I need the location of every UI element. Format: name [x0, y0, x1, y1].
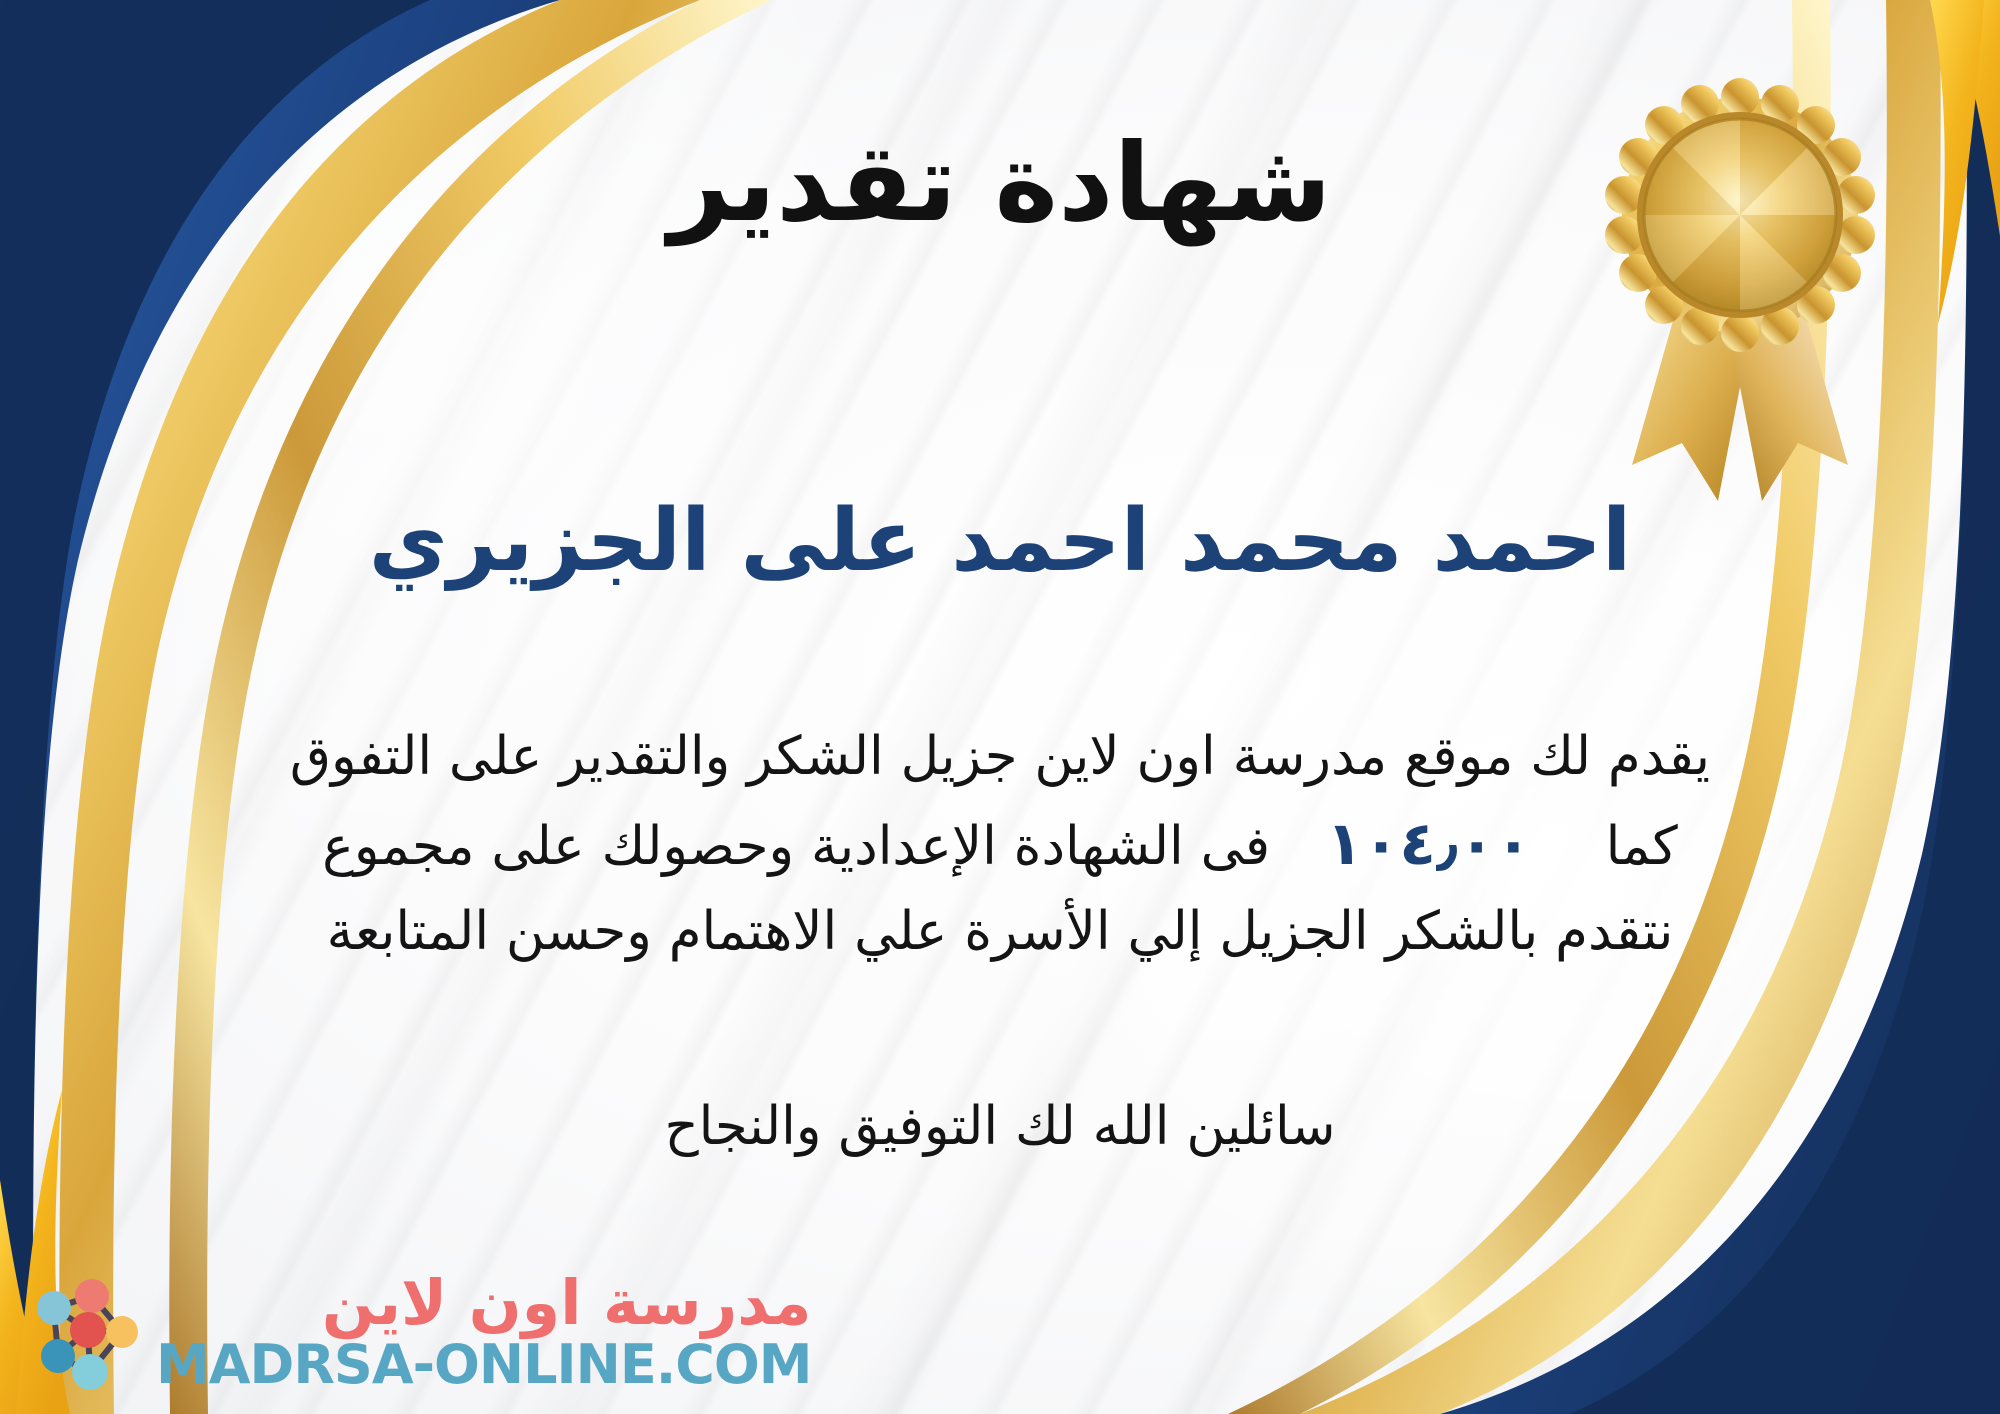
- closing-wish: سائلين الله لك التوفيق والنجاح: [0, 1096, 2000, 1157]
- network-nodes-icon: [18, 1268, 146, 1396]
- body-line-1: يقدم لك موقع مدرسة اون لاين جزيل الشكر و…: [55, 716, 1945, 798]
- certificate-title: شهادة تقدير: [0, 118, 2000, 250]
- brand-website-url: MADRSA-ONLINE.COM: [156, 1338, 812, 1392]
- body-line-3: نتقدم بالشكر الجزيل إلي الأسرة علي الاهت…: [55, 891, 1945, 973]
- brand-logo[interactable]: مدرسة اون لاين MADRSA-ONLINE.COM: [18, 1268, 812, 1396]
- certificate-body: يقدم لك موقع مدرسة اون لاين جزيل الشكر و…: [55, 716, 1945, 973]
- body-line-2-prefix: فى الشهادة الإعدادية وحصولك على مجموع: [322, 806, 1270, 888]
- body-line-2-suffix: كما: [1606, 806, 1678, 888]
- brand-logo-text: مدرسة اون لاين MADRSA-ONLINE.COM: [156, 1272, 812, 1392]
- brand-name-arabic: مدرسة اون لاين: [322, 1272, 812, 1334]
- body-line-2: فى الشهادة الإعدادية وحصولك على مجموع ١٠…: [55, 798, 1945, 891]
- certificate-document: شهادة تقدير احمد محمد احمد على الجزيري ي…: [0, 0, 2000, 1414]
- recipient-name: احمد محمد احمد على الجزيري: [0, 488, 2000, 596]
- total-score-value: ١٠٤٫٠٠: [1270, 798, 1606, 891]
